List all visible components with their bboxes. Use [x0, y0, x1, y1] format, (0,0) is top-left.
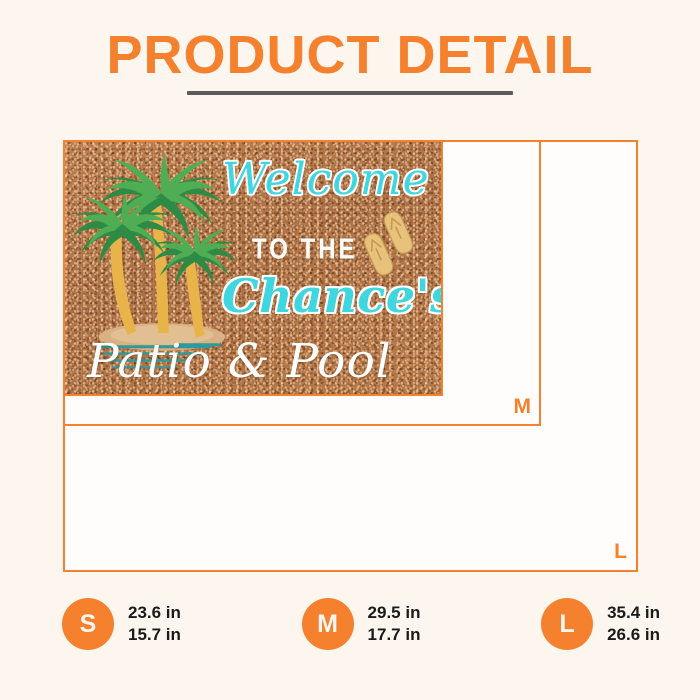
- legend-item-medium: M 29.5 in 17.7 in: [302, 598, 421, 650]
- size-legend: S 23.6 in 15.7 in M 29.5 in 17.7 in L 35…: [0, 598, 700, 692]
- size-rect-label-medium: M: [514, 396, 532, 417]
- size-dimension-height-medium: 17.7 in: [368, 624, 421, 646]
- size-dimension-height-large: 26.6 in: [607, 624, 660, 646]
- doormat-product-image: Welcome TO THE Chance's Patio & Pool: [63, 140, 443, 396]
- size-comparison-diagram: L M: [0, 0, 700, 600]
- mat-tagline-text: Patio & Pool: [87, 338, 392, 385]
- size-dimensions-medium: 29.5 in 17.7 in: [368, 602, 421, 646]
- legend-item-small: S 23.6 in 15.7 in: [62, 598, 181, 650]
- size-dimension-width-small: 23.6 in: [128, 602, 181, 624]
- size-rect-label-large: L: [614, 541, 627, 562]
- size-badge-large: L: [541, 598, 593, 650]
- size-dimensions-small: 23.6 in 15.7 in: [128, 602, 181, 646]
- size-dimensions-large: 35.4 in 26.6 in: [607, 602, 660, 646]
- mat-to-the-text: TO THE: [252, 236, 358, 264]
- legend-item-large: L 35.4 in 26.6 in: [541, 598, 660, 650]
- size-dimension-width-medium: 29.5 in: [368, 602, 421, 624]
- size-dimension-width-large: 35.4 in: [607, 602, 660, 624]
- mat-welcome-text: Welcome: [222, 158, 430, 202]
- size-dimension-height-small: 15.7 in: [128, 624, 181, 646]
- size-badge-medium: M: [302, 598, 354, 650]
- flip-flops-shape: [362, 209, 416, 277]
- size-badge-small: S: [62, 598, 114, 650]
- mat-family-name-text: Chance's: [222, 273, 443, 319]
